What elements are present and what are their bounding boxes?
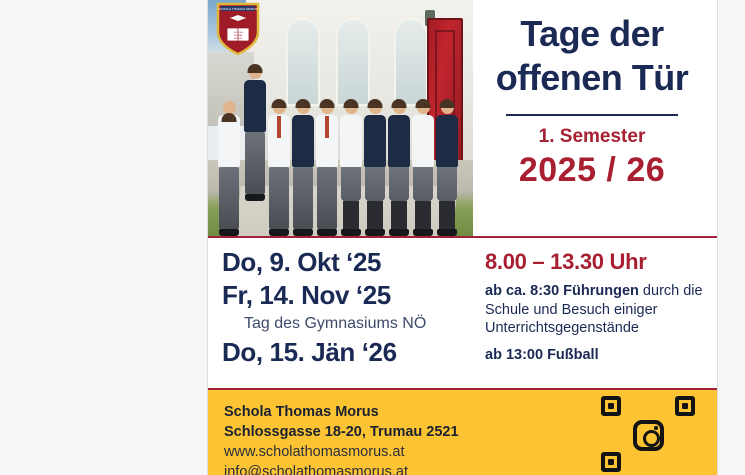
date-item: Fr, 14. Nov ‘25 [222, 279, 473, 312]
svg-text:SCHOLA: SCHOLA [234, 31, 244, 34]
svg-text:SCHOLA THOMAS MORUS: SCHOLA THOMAS MORUS [219, 7, 258, 11]
page-root: SCHOLA THOMAS MORUS SCHOLA THOMAS MORUS … [0, 0, 745, 475]
guided-tours-text: ab ca. 8:30 Führungen durch die Schule u… [485, 282, 717, 338]
student-figure [316, 101, 338, 236]
student-figure [364, 101, 386, 236]
student-figure [218, 101, 240, 236]
school-group-photo: SCHOLA THOMAS MORUS SCHOLA THOMAS MORUS [208, 0, 473, 236]
guided-tours-bold: ab ca. 8:30 Führungen [485, 283, 639, 299]
student-figure [340, 101, 362, 236]
open-day-dates: Do, 9. Okt ‘25 Fr, 14. Nov ‘25 Tag des G… [208, 246, 473, 388]
student-figure [412, 101, 434, 236]
student-figure [292, 101, 314, 236]
student-figure [244, 66, 266, 236]
qr-finder-icon [601, 452, 621, 472]
student-figure [268, 101, 290, 236]
date-item: Do, 9. Okt ‘25 [222, 246, 473, 279]
student-figure [388, 101, 410, 236]
qr-finder-icon [675, 396, 695, 416]
football-note: ab 13:00 Fußball [485, 346, 717, 364]
title-line-1: Tage der [520, 12, 663, 56]
poster-sheet: SCHOLA THOMAS MORUS SCHOLA THOMAS MORUS … [207, 0, 718, 475]
date-note: Tag des Gymnasiums NÖ [222, 312, 473, 336]
photo-students-group [214, 58, 466, 236]
poster-footer: Schola Thomas Morus Schlossgasse 18-20, … [208, 390, 717, 475]
school-year: 2025 / 26 [519, 150, 665, 190]
poster-details: Do, 9. Okt ‘25 Fr, 14. Nov ‘25 Tag des G… [208, 238, 717, 388]
title-divider [506, 114, 678, 116]
svg-text:MORUS: MORUS [234, 38, 243, 40]
opening-hours: 8.00 – 13.30 Uhr [485, 248, 717, 276]
title-line-2: offenen Tür [496, 56, 688, 100]
instagram-qr-code[interactable] [599, 392, 699, 474]
semester-label: 1. Semester [539, 126, 646, 148]
student-figure [436, 101, 458, 236]
poster-title-block: Tage der offenen Tür 1. Semester 2025 / … [473, 0, 717, 236]
date-item: Do, 15. Jän ‘26 [222, 336, 473, 369]
school-crest-icon: SCHOLA THOMAS MORUS SCHOLA THOMAS MORUS [216, 2, 260, 56]
open-day-info: 8.00 – 13.30 Uhr ab ca. 8:30 Führungen d… [473, 246, 717, 388]
svg-text:THOMAS: THOMAS [233, 34, 243, 37]
instagram-icon [633, 420, 664, 451]
poster-header: SCHOLA THOMAS MORUS SCHOLA THOMAS MORUS … [208, 0, 717, 236]
qr-finder-icon [601, 396, 621, 416]
